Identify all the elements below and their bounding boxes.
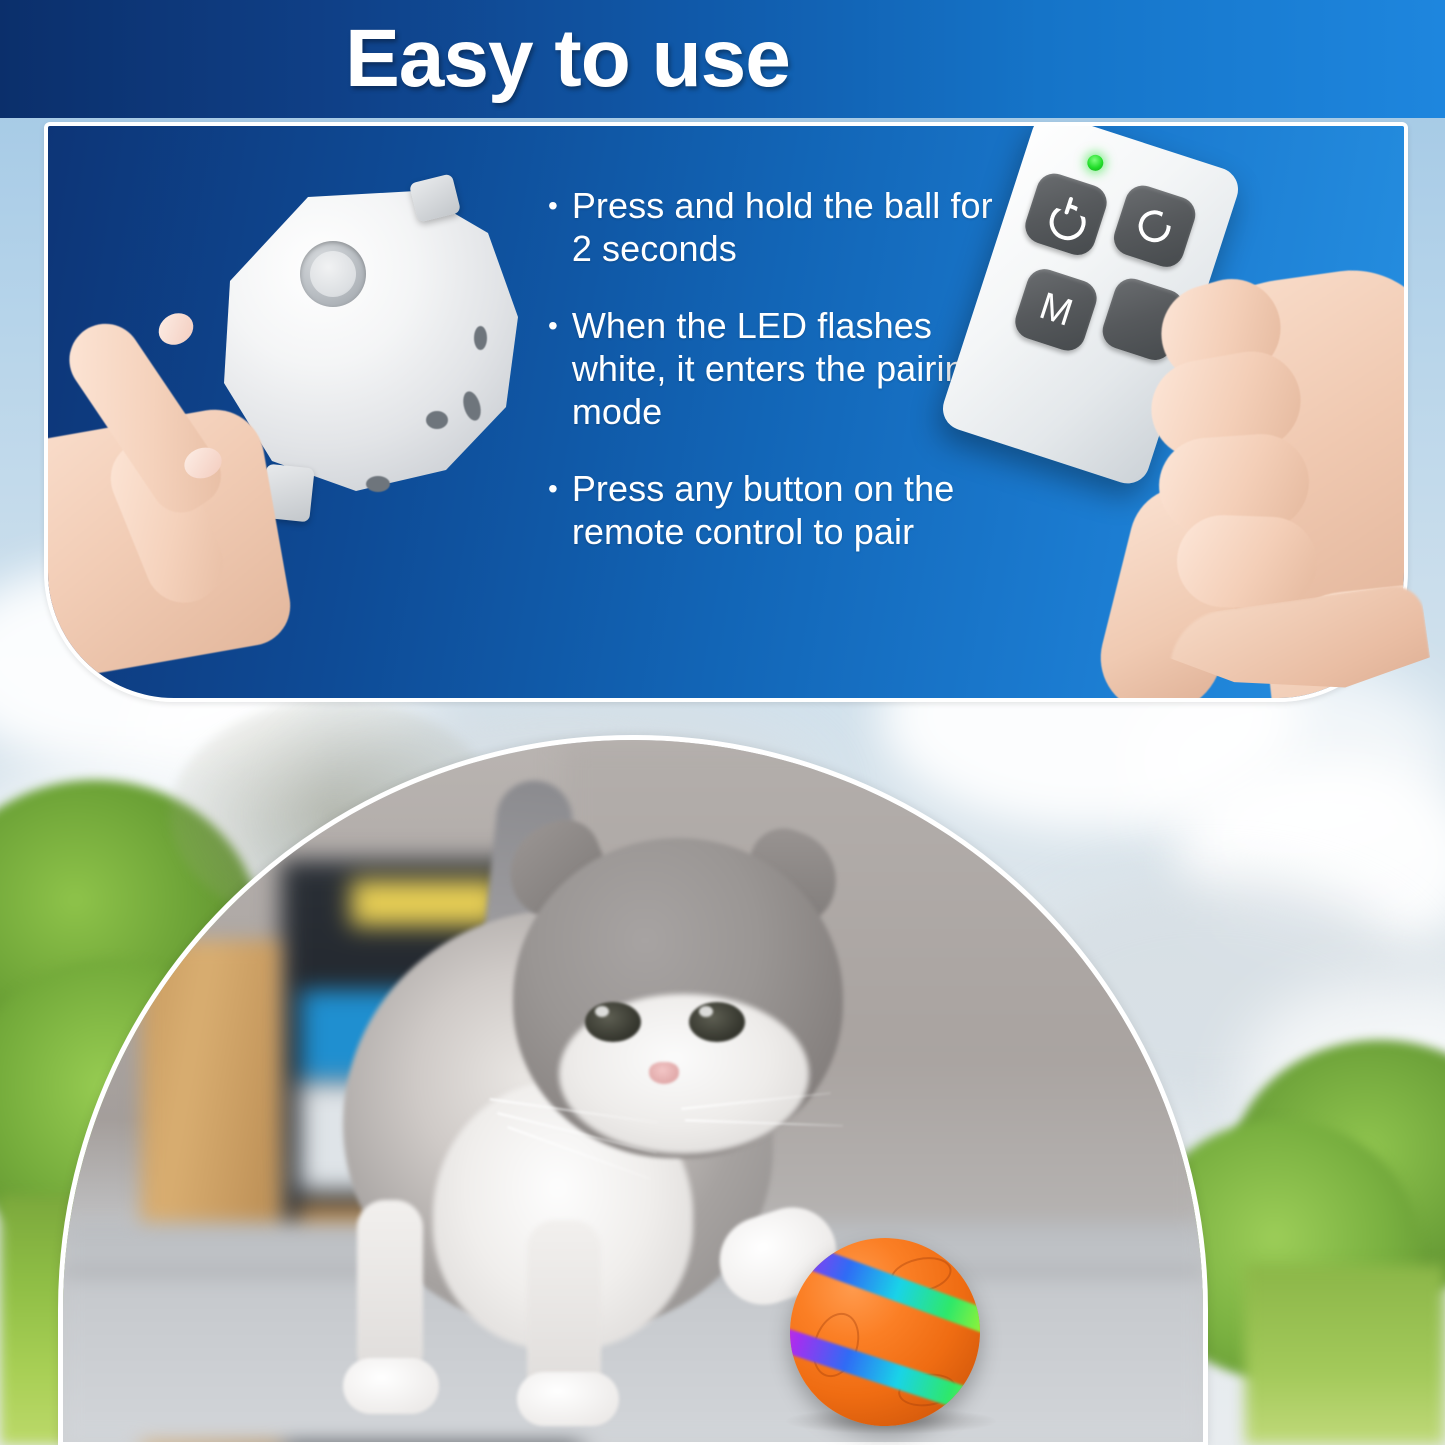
fingernail [153, 307, 199, 351]
remote-led-indicator [1085, 153, 1105, 173]
bullet-marker-icon: • [548, 304, 558, 348]
page-title: Easy to use [0, 0, 1445, 118]
ball-device-vent [474, 326, 487, 350]
header-banner: Easy to use [0, 0, 1445, 118]
kitten-hind-leg [357, 1200, 423, 1380]
infographic-canvas: Easy to use • [0, 0, 1445, 1445]
kitten-eye [585, 1002, 641, 1042]
hand-pressing-ball [44, 306, 368, 636]
ball-power-button-inner[interactable] [310, 251, 356, 297]
instruction-list: • Press and hold the ball for 2 seconds … [548, 184, 1018, 587]
finger [1175, 514, 1318, 611]
kitten-eye-highlight [595, 1006, 609, 1017]
list-item-label: Press any button on the remote control t… [572, 467, 1018, 553]
bullet-marker-icon: • [548, 467, 558, 511]
list-item: • Press any button on the remote control… [548, 467, 1018, 553]
kitten-eye [689, 1002, 745, 1042]
ball-device-vent [366, 476, 390, 492]
kitten-paw [517, 1372, 619, 1426]
grass-right [1245, 1265, 1445, 1445]
list-item-label: Press and hold the ball for 2 seconds [572, 184, 1018, 270]
kitten-paw [343, 1358, 439, 1414]
toy-ball [790, 1238, 980, 1426]
ball-device-vent [426, 411, 448, 429]
kitten-photo-arch [58, 735, 1208, 1445]
kitten-nose [649, 1062, 679, 1084]
ball-device-illustration [68, 136, 538, 606]
list-item: • Press and hold the ball for 2 seconds [548, 184, 1018, 270]
bullet-marker-icon: • [548, 184, 558, 228]
kitten-eye-highlight [699, 1006, 713, 1017]
